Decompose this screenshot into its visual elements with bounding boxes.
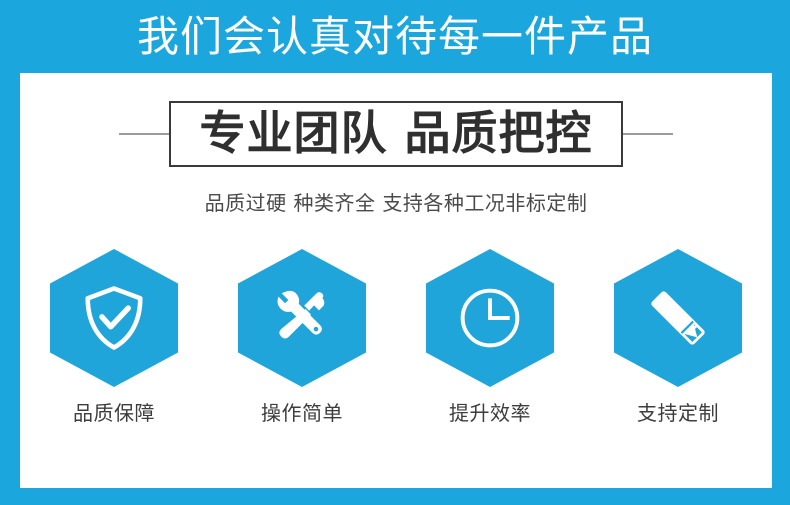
clock-icon <box>455 283 525 353</box>
feature-item-easy-operation[interactable]: 操作简单 <box>222 249 382 423</box>
feature-label: 支持定制 <box>637 403 719 423</box>
content-panel: 专业团队 品质把控 品质过硬 种类齐全 支持各种工况非标定制 品质保障 <box>20 73 772 488</box>
subtitle-text: 品质过硬 种类齐全 支持各种工况非标定制 <box>205 191 588 215</box>
shield-check-icon <box>79 283 149 353</box>
feature-hex-easy-operation <box>238 249 366 387</box>
promo-banner: 我们会认真对待每一件产品 专业团队 品质把控 品质过硬 种类齐全 支持各种工况非… <box>0 0 790 505</box>
feature-label: 提升效率 <box>449 403 531 423</box>
feature-hex-quality <box>50 249 178 387</box>
headline-text: 专业团队 品质把控 <box>199 110 592 156</box>
subtitle-block: 品质过硬 种类齐全 支持各种工况非标定制 <box>20 191 772 215</box>
wrench-hammer-icon <box>267 283 337 353</box>
headline-frame: 专业团队 品质把控 <box>169 101 622 167</box>
feature-list: 品质保障 <box>20 249 772 423</box>
feature-item-quality[interactable]: 品质保障 <box>34 249 194 423</box>
feature-hex-customization <box>614 249 742 387</box>
headline-block: 专业团队 品质把控 <box>20 95 772 173</box>
banner-header: 我们会认真对待每一件产品 <box>0 0 790 73</box>
feature-label: 操作简单 <box>261 403 343 423</box>
feature-item-efficiency[interactable]: 提升效率 <box>410 249 570 423</box>
banner-header-title: 我们会认真对待每一件产品 <box>137 16 653 58</box>
ruler-pen-icon <box>643 283 713 353</box>
feature-label: 品质保障 <box>73 403 155 423</box>
feature-item-customization[interactable]: 支持定制 <box>598 249 758 423</box>
feature-hex-efficiency <box>426 249 554 387</box>
